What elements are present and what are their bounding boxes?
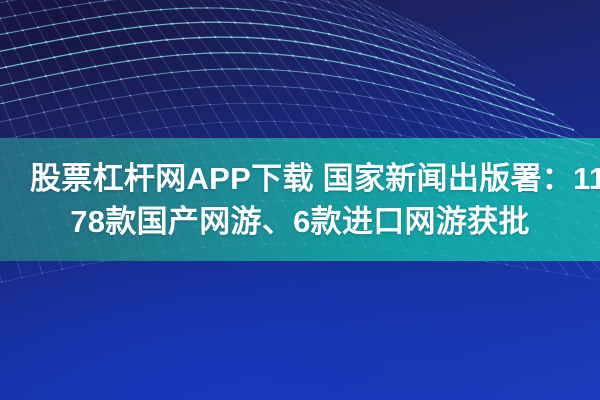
banner-image: 股票杠杆网APP下载 国家新闻出版署：11月共1 78款国产网游、6款进口网游获… [0,0,600,400]
headline-line-2: 78款国产网游、6款进口网游获批 [70,200,530,243]
headline: 股票杠杆网APP下载 国家新闻出版署：11月共1 78款国产网游、6款进口网游获… [0,138,600,261]
headline-line-1: 股票杠杆网APP下载 国家新闻出版署：11月共1 [30,157,600,200]
